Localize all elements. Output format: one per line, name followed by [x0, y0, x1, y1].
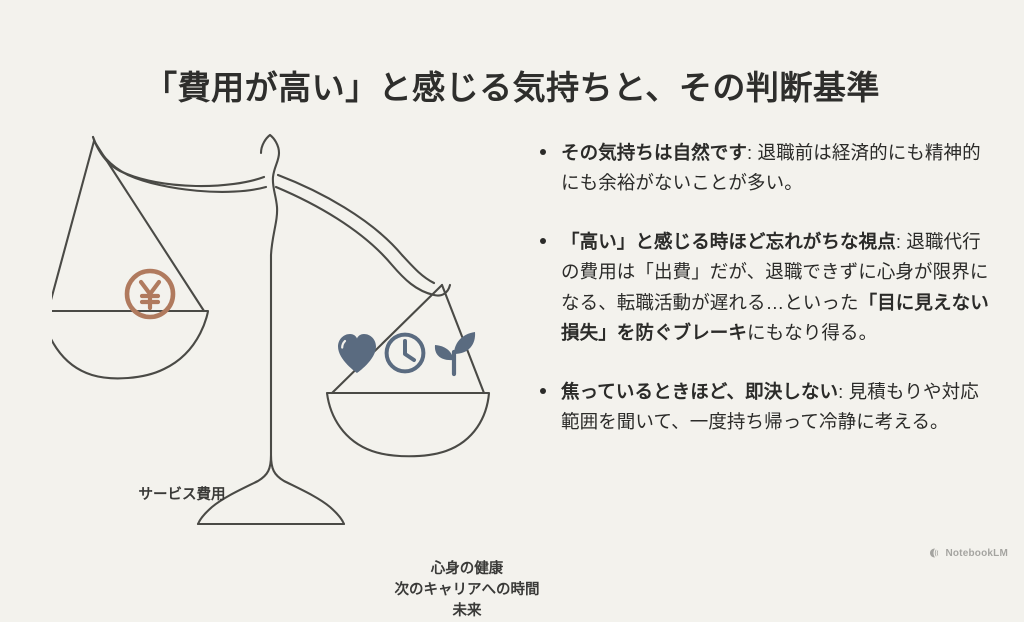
bullet-text: 「高い」と感じる時ほど忘れがちな視点: 退職代行の費用は「出費」だが、退職できず…: [561, 231, 989, 342]
balance-scale-drawing: [52, 125, 522, 535]
right-pan-label-line-3: 未来: [349, 601, 585, 622]
bullet-text: 焦っているときほど、即決しない: 見積もりや対応範囲を聞いて、一度持ち帰って冷静…: [561, 381, 979, 432]
right-pan-label-line-1: 心身の健康: [349, 559, 585, 580]
notebooklm-logo-icon: [929, 547, 941, 559]
left-pan-string-right: [94, 141, 204, 311]
heart-icon: [338, 334, 376, 373]
left-pan-string-left: [52, 141, 94, 311]
left-pan-dish: [52, 311, 208, 378]
bullet-item-do-not-decide-immediately: 焦っているときほど、即決しない: 見積もりや対応範囲を聞いて、一度持ち帰って冷静…: [537, 377, 992, 437]
clock-icon: [387, 335, 424, 372]
right-pan-dish: [327, 393, 489, 456]
bullet-item-natural-feeling: その気持ちは自然です: 退職前は経済的にも精神的にも余裕がないことが多い。: [537, 138, 992, 198]
right-pan-label: 心身の健康 次のキャリアへの時間 未来: [349, 559, 585, 622]
bullet-list: その気持ちは自然です: 退職前は経済的にも精神的にも余裕がないことが多い。 「高…: [537, 138, 992, 437]
left-pan-label: サービス費用: [72, 485, 292, 506]
bullet-text: その気持ちは自然です: 退職前は経済的にも精神的にも余裕がないことが多い。: [561, 142, 981, 193]
page-title: 「費用が高い」と感じる気持ちと、その判断基準: [0, 67, 1024, 110]
scale-beam-right-bottom: [276, 187, 450, 296]
right-pan-label-line-2: 次のキャリアへの時間: [349, 580, 585, 601]
scale-pillar: [198, 135, 344, 524]
bullet-marker-icon: [540, 149, 546, 155]
bullet-marker-icon: [540, 388, 546, 394]
notebooklm-watermark: NotebookLM: [929, 547, 1008, 559]
balance-scale-illustration: サービス費用 心身の健康 次のキャリアへの時間 未来: [52, 125, 522, 535]
notebooklm-watermark-text: NotebookLM: [945, 548, 1008, 559]
scale-beam-right-top: [278, 175, 434, 283]
bullet-item-forgotten-viewpoint: 「高い」と感じる時ほど忘れがちな視点: 退職代行の費用は「出費」だが、退職できず…: [537, 227, 992, 348]
bullet-marker-icon: [540, 238, 546, 244]
